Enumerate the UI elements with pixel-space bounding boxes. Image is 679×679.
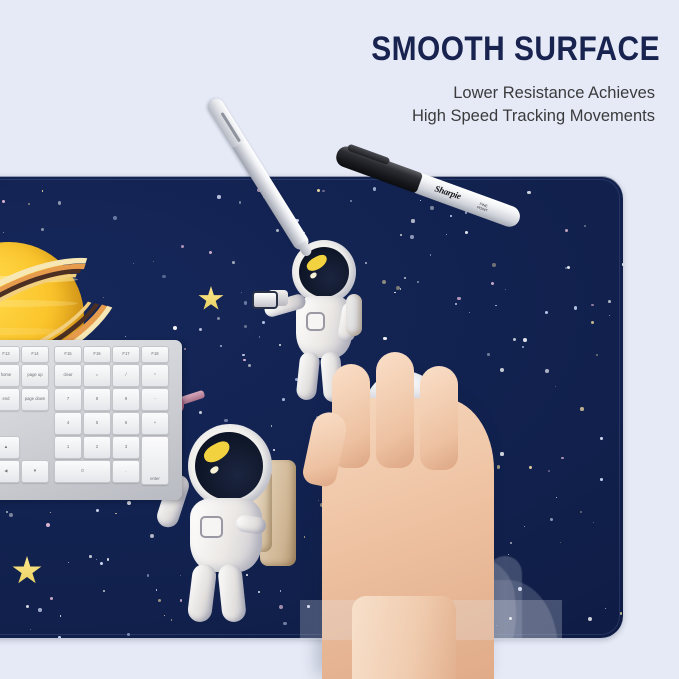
star-icon xyxy=(524,526,525,527)
star-icon xyxy=(383,337,386,340)
star-icon xyxy=(404,277,407,280)
subtitle-line-1: Lower Resistance Achieves xyxy=(195,82,655,105)
star-icon xyxy=(565,229,568,232)
star-icon xyxy=(103,590,105,592)
star-icon xyxy=(545,311,548,314)
wrist xyxy=(352,596,456,679)
star-icon xyxy=(567,266,570,269)
star-icon xyxy=(492,263,496,267)
star-icon xyxy=(522,346,525,349)
star-icon xyxy=(394,292,395,293)
star-icon xyxy=(508,554,509,555)
star-icon xyxy=(239,201,241,203)
star-icon xyxy=(608,300,611,303)
star-icon xyxy=(497,465,500,468)
star-icon xyxy=(242,354,245,357)
star-icon xyxy=(382,280,386,284)
star-icon xyxy=(600,437,602,439)
star-icon xyxy=(574,306,578,310)
star-icon xyxy=(58,201,62,205)
star-icon xyxy=(26,605,29,608)
keypad-key[interactable]: enter xyxy=(141,436,169,485)
star-icon xyxy=(400,288,402,290)
star-icon xyxy=(220,345,222,347)
star-icon xyxy=(420,200,421,201)
keypad-key[interactable]: home xyxy=(0,364,20,387)
star-icon xyxy=(600,478,603,481)
star-icon xyxy=(591,321,594,324)
keypad-key[interactable]: 9 xyxy=(112,388,140,411)
keypad-key[interactable]: 3 xyxy=(112,436,140,459)
star-icon xyxy=(561,457,564,460)
keypad-key[interactable]: 1 xyxy=(54,436,82,459)
star-icon xyxy=(588,617,592,621)
keypad-key[interactable]: . xyxy=(112,460,140,483)
star-icon xyxy=(6,511,8,513)
star-icon xyxy=(68,562,69,563)
star-icon xyxy=(318,500,319,501)
star-icon xyxy=(50,512,51,513)
page-title: SMOOTH SURFACE xyxy=(370,30,660,69)
star-icon xyxy=(555,386,556,387)
star-icon xyxy=(30,629,31,630)
star-icon xyxy=(487,353,490,356)
star-icon xyxy=(545,369,549,373)
star-icon xyxy=(89,555,92,558)
star-icon xyxy=(513,338,516,341)
star-icon xyxy=(96,559,97,560)
star-icon xyxy=(465,231,468,234)
star-icon xyxy=(596,354,598,356)
star-icon xyxy=(523,338,527,342)
star-icon xyxy=(150,534,154,538)
star-icon xyxy=(244,325,247,328)
star-icon xyxy=(46,523,50,527)
star-icon xyxy=(173,326,177,330)
star-icon xyxy=(580,511,583,514)
keypad-key[interactable]: ▼ xyxy=(21,460,49,483)
star-icon xyxy=(527,191,531,195)
star-icon xyxy=(199,328,202,331)
star-icon xyxy=(580,407,584,411)
star-icon xyxy=(125,336,126,337)
star-icon xyxy=(529,466,531,468)
numeric-keypad[interactable]: F13F14F15F16F17F18homepage upclear=/*end… xyxy=(0,340,182,500)
star-icon xyxy=(593,522,594,523)
star-icon xyxy=(217,195,220,198)
star-icon xyxy=(446,234,447,235)
star-icon xyxy=(317,189,320,192)
star-icon xyxy=(2,200,5,203)
keypad-key[interactable]: F17 xyxy=(112,346,140,363)
star-icon xyxy=(410,235,414,239)
star-icon xyxy=(622,263,623,266)
star-icon xyxy=(455,303,458,306)
star-icon xyxy=(224,419,228,423)
keypad-key[interactable]: + xyxy=(141,412,169,435)
star-icon xyxy=(400,234,402,236)
star-icon xyxy=(28,203,30,205)
keypad-key[interactable]: clear xyxy=(54,364,82,387)
star-icon xyxy=(241,292,242,293)
star-icon xyxy=(373,187,377,191)
star-icon xyxy=(147,574,150,577)
keypad-key[interactable]: 4 xyxy=(54,412,82,435)
star-icon xyxy=(209,251,212,254)
keypad-key[interactable]: ◀ xyxy=(0,460,20,483)
keypad-key[interactable]: ▲ xyxy=(0,436,20,459)
star-icon xyxy=(469,312,470,313)
keypad-key[interactable]: F14 xyxy=(21,346,49,363)
subtitle-line-2: High Speed Tracking Movements xyxy=(195,105,655,128)
star-icon xyxy=(162,275,166,279)
keypad-key[interactable]: 6 xyxy=(112,412,140,435)
keypad-key[interactable]: / xyxy=(112,364,140,387)
keypad-key[interactable]: F18 xyxy=(141,346,169,363)
star-icon xyxy=(100,562,103,565)
star-icon xyxy=(96,509,99,512)
astronaut-with-jetpack xyxy=(164,424,314,624)
star-icon xyxy=(605,608,606,609)
keypad-key[interactable]: * xyxy=(141,364,169,387)
star-icon xyxy=(181,245,185,249)
star-icon xyxy=(620,612,622,614)
star-icon xyxy=(411,219,414,222)
star-icon xyxy=(60,615,62,617)
star-icon xyxy=(232,261,235,264)
star-icon xyxy=(217,317,220,320)
star-icon xyxy=(107,558,110,561)
star-icon xyxy=(42,190,43,191)
star-icon xyxy=(113,216,117,220)
star-icon xyxy=(550,518,553,521)
star-icon xyxy=(457,297,461,301)
star-icon xyxy=(244,301,247,304)
star-icon xyxy=(500,452,503,455)
star-icon xyxy=(500,368,504,372)
keypad-key[interactable]: 0 xyxy=(54,460,111,483)
star-icon xyxy=(9,513,13,517)
star-icon xyxy=(38,608,41,611)
star-icon xyxy=(565,267,566,268)
keypad-key[interactable]: - xyxy=(141,388,169,411)
star-icon xyxy=(556,497,557,498)
keypad-key[interactable]: page down xyxy=(21,388,49,411)
star-icon xyxy=(491,282,494,285)
star-icon xyxy=(133,263,134,264)
keypad-key[interactable]: end xyxy=(0,388,20,411)
star-icon xyxy=(584,225,586,227)
star-icon xyxy=(127,501,131,505)
star-icon xyxy=(560,542,561,543)
star-icon xyxy=(450,215,452,217)
star-icon xyxy=(248,364,251,367)
star-icon xyxy=(548,470,550,472)
star-icon xyxy=(156,589,157,590)
star-icon xyxy=(50,597,53,600)
star-icon xyxy=(322,190,324,192)
star-icon xyxy=(510,542,512,544)
keypad-key[interactable]: 8 xyxy=(83,388,111,411)
keypad-key[interactable]: page up xyxy=(21,364,49,387)
keypad-key[interactable]: F15 xyxy=(54,346,82,363)
camera-icon xyxy=(252,286,292,310)
star-icon xyxy=(58,636,61,638)
star-icon xyxy=(430,206,433,209)
star-icon xyxy=(276,229,279,232)
star-icon xyxy=(115,513,116,514)
keypad-key[interactable]: F13 xyxy=(0,346,20,363)
keypad-key[interactable]: 5 xyxy=(83,412,111,435)
star-icon xyxy=(158,599,161,602)
star-icon xyxy=(505,289,506,290)
product-image-stage: SMOOTH SURFACE Lower Resistance Achieves… xyxy=(0,0,679,679)
keypad-key[interactable]: F16 xyxy=(83,346,111,363)
star-icon xyxy=(495,305,496,306)
star-icon xyxy=(430,254,432,256)
star-icon xyxy=(184,348,186,350)
keypad-key[interactable]: 2 xyxy=(83,436,111,459)
star-icon xyxy=(591,304,594,307)
keypad-key[interactable]: = xyxy=(83,364,111,387)
star-icon xyxy=(417,281,419,283)
star-icon xyxy=(243,359,246,362)
star-icon xyxy=(153,261,154,262)
star-icon xyxy=(609,315,610,316)
star-icon xyxy=(350,200,352,202)
star-icon xyxy=(127,633,130,636)
keypad-key[interactable]: 7 xyxy=(54,388,82,411)
